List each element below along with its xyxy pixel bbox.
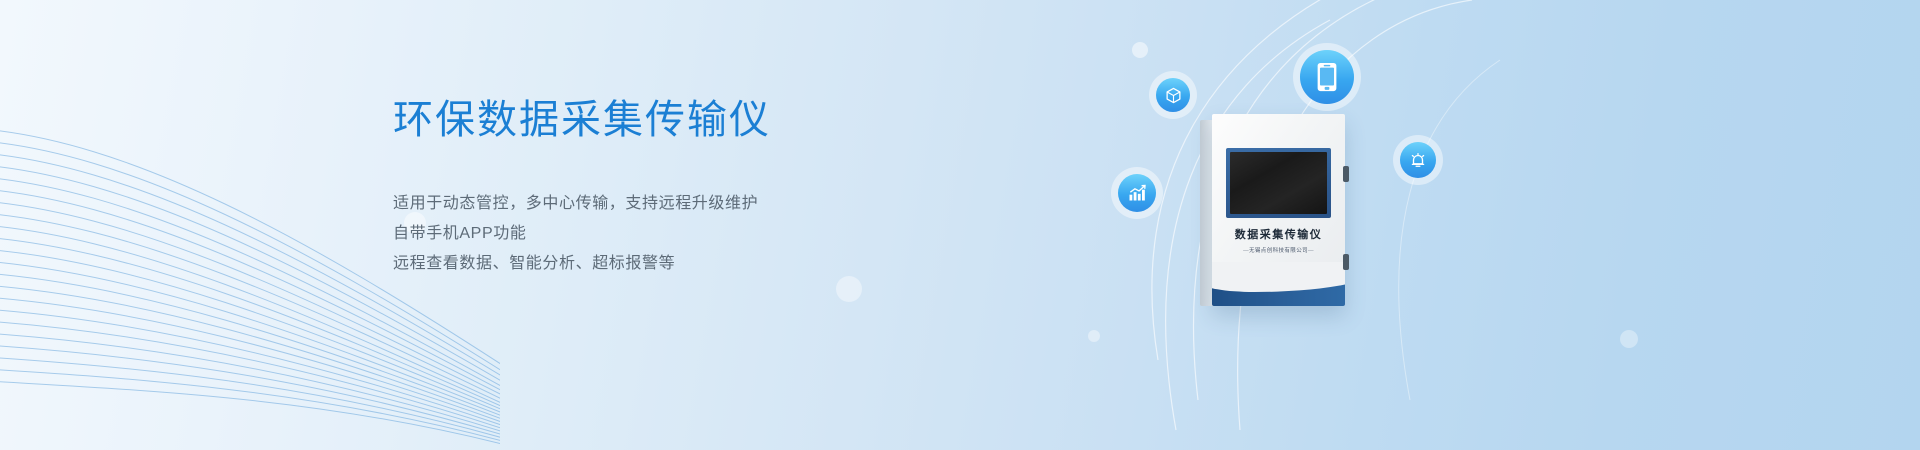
banner-subtitle-line: 自带手机APP功能 bbox=[393, 219, 1033, 249]
device-nameplate-company: —无锡点创科技有限公司— bbox=[1212, 246, 1345, 254]
banner-subtitle-line: 远程查看数据、智能分析、超标报警等 bbox=[393, 249, 1033, 279]
device-base-band bbox=[1212, 276, 1345, 306]
bokeh-dot bbox=[836, 276, 862, 302]
banner-title: 环保数据采集传输仪 bbox=[393, 96, 1033, 144]
device-screen-bezel bbox=[1226, 148, 1331, 218]
phone-icon-glyph bbox=[1316, 62, 1338, 92]
chart-icon[interactable] bbox=[1118, 174, 1156, 212]
product-hero-banner: 环保数据采集传输仪 适用于动态管控，多中心传输，支持远程升级维护 自带手机APP… bbox=[0, 0, 1920, 450]
cube-icon[interactable] bbox=[1156, 78, 1190, 112]
device-hinge bbox=[1343, 254, 1349, 270]
banner-subtitle-line: 适用于动态管控，多中心传输，支持远程升级维护 bbox=[393, 189, 1033, 219]
alarm-icon-glyph bbox=[1409, 151, 1427, 169]
banner-subtitle-list: 适用于动态管控，多中心传输，支持远程升级维护 自带手机APP功能 远程查看数据、… bbox=[393, 189, 1033, 279]
product-illustration: 数据采集传输仪 —无锡点创科技有限公司— bbox=[1080, 0, 1700, 450]
phone-icon[interactable] bbox=[1300, 50, 1354, 104]
cube-icon-glyph bbox=[1165, 87, 1182, 104]
device-nameplate: 数据采集传输仪 —无锡点创科技有限公司— bbox=[1212, 226, 1345, 254]
banner-copy-block: 环保数据采集传输仪 适用于动态管控，多中心传输，支持远程升级维护 自带手机APP… bbox=[393, 96, 1033, 279]
device-hinge bbox=[1343, 166, 1349, 182]
device-photo: 数据采集传输仪 —无锡点创科技有限公司— bbox=[1200, 114, 1345, 306]
orbit-arcs-decoration bbox=[1080, 0, 1700, 450]
chart-icon-glyph bbox=[1127, 183, 1147, 203]
device-nameplate-title: 数据采集传输仪 bbox=[1212, 226, 1345, 242]
device-screen bbox=[1230, 152, 1327, 214]
alarm-icon[interactable] bbox=[1400, 142, 1436, 178]
device-front-panel: 数据采集传输仪 —无锡点创科技有限公司— bbox=[1212, 114, 1345, 306]
